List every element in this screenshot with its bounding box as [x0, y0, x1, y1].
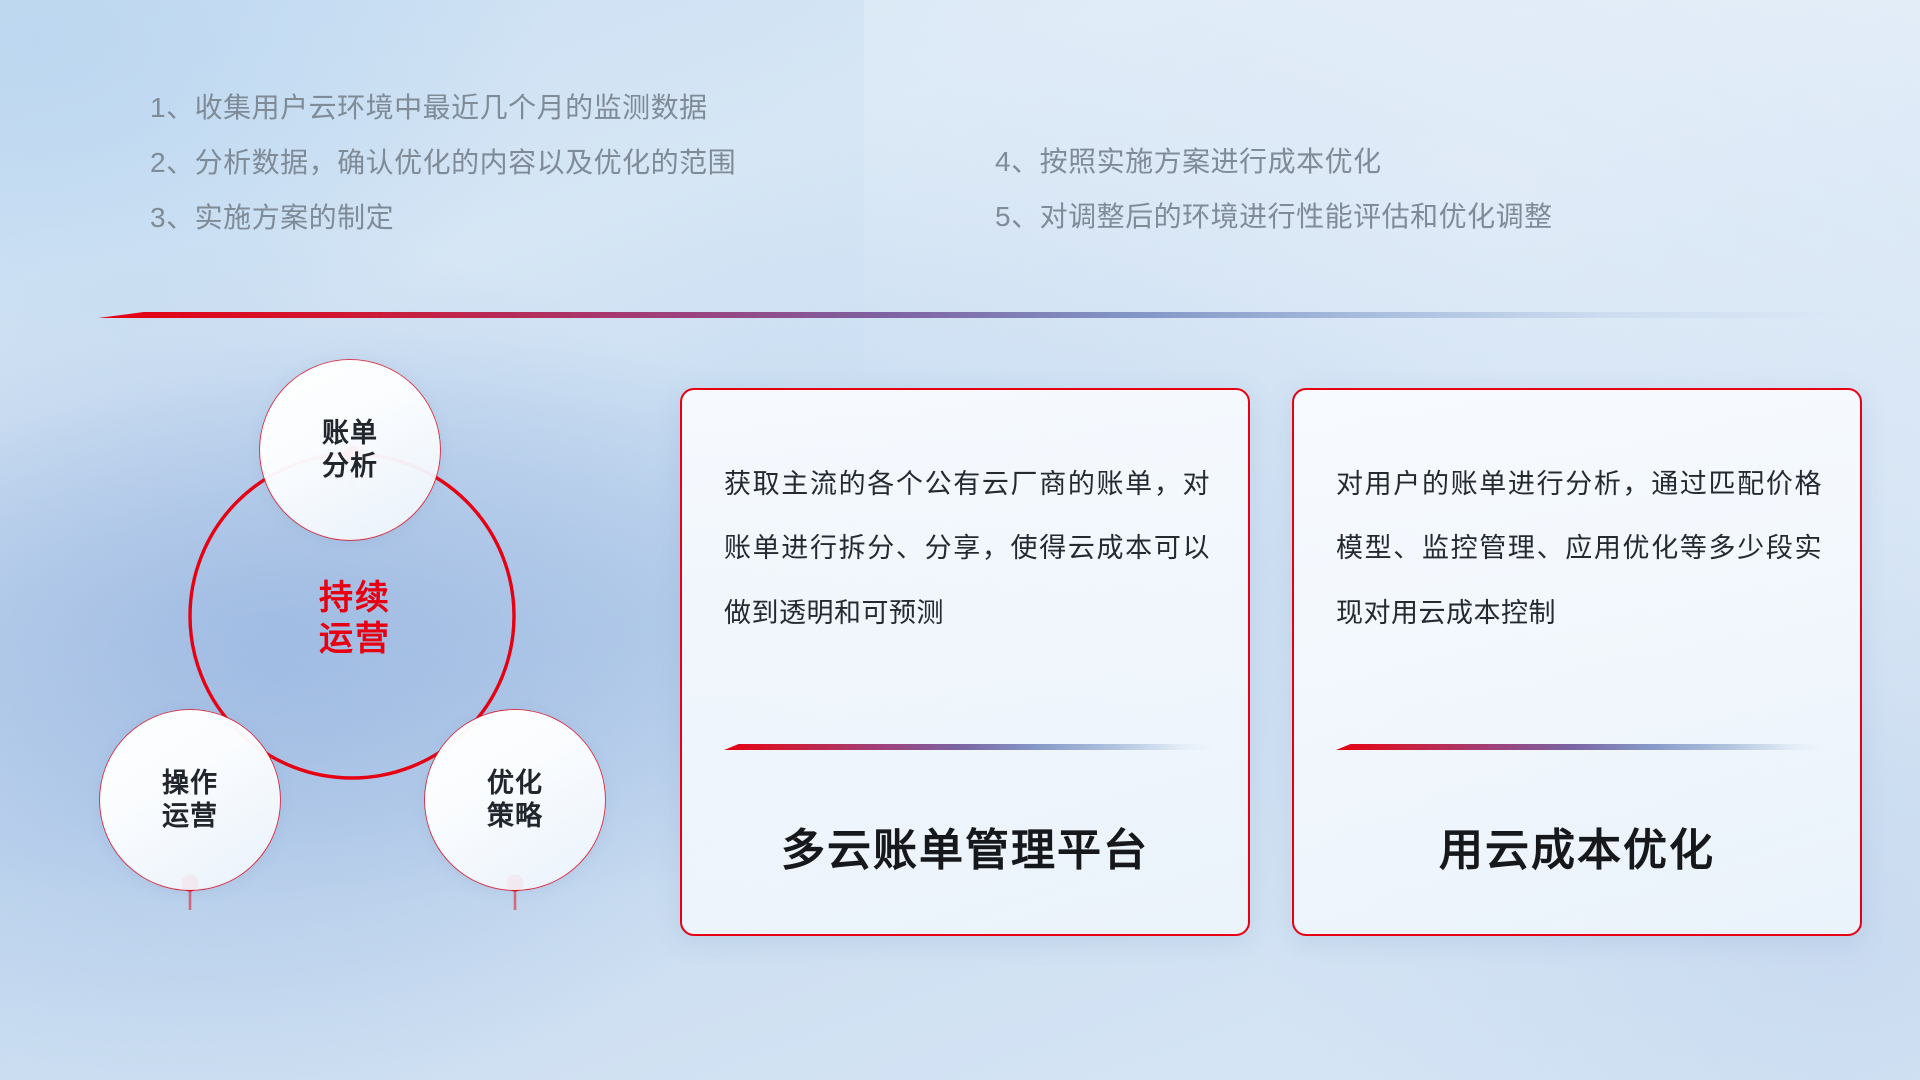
step-item-1: 1、收集用户云环境中最近几个月的监测数据: [150, 94, 736, 122]
bubble-label-line1: 操作: [162, 767, 218, 800]
center-label-line2: 运营: [275, 619, 435, 660]
step-item-2: 2、分析数据，确认优化的内容以及优化的范围: [150, 149, 736, 177]
card-accent-rule: [1336, 744, 1824, 750]
card-multi-cloud-bill-platform[interactable]: 获取主流的各个公有云厂商的账单，对账单进行拆分、分享，使得云成本可以做到透明和可…: [680, 388, 1250, 936]
step-item-5: 5、对调整后的环境进行性能评估和优化调整: [995, 203, 1553, 231]
bubble-label-line1: 账单: [322, 417, 378, 450]
diagram-bubble-optimization-policy[interactable]: 优化 策略: [425, 710, 605, 890]
card-title: 用云成本优化: [1294, 814, 1860, 878]
slide-canvas: 1、收集用户云环境中最近几个月的监测数据 2、分析数据，确认优化的内容以及优化的…: [0, 0, 1920, 1080]
card-body-text: 对用户的账单进行分析，通过匹配价格模型、监控管理、应用优化等多少段实现对用云成本…: [1336, 452, 1822, 645]
continuous-operation-diagram: 账单 分析 操作 运营 优化 策略 持续 运营: [90, 350, 650, 950]
bubble-label-line2: 运营: [162, 800, 218, 833]
bubble-label-line2: 分析: [322, 450, 378, 483]
diagram-bubble-bill-analysis[interactable]: 账单 分析: [260, 360, 440, 540]
step-item-3: 3、实施方案的制定: [150, 204, 736, 232]
card-title: 多云账单管理平台: [682, 814, 1248, 878]
diagram-bubble-operation[interactable]: 操作 运营: [100, 710, 280, 890]
card-accent-rule: [724, 744, 1212, 750]
center-label-line1: 持续: [275, 578, 435, 619]
steps-right-column: 4、按照实施方案进行成本优化 5、对调整后的环境进行性能评估和优化调整: [995, 148, 1553, 231]
section-divider: [98, 312, 1858, 318]
step-item-4: 4、按照实施方案进行成本优化: [995, 148, 1553, 176]
card-cloud-cost-optimization[interactable]: 对用户的账单进行分析，通过匹配价格模型、监控管理、应用优化等多少段实现对用云成本…: [1292, 388, 1862, 936]
steps-left-column: 1、收集用户云环境中最近几个月的监测数据 2、分析数据，确认优化的内容以及优化的…: [150, 94, 736, 232]
section-divider-fill: [98, 312, 1858, 318]
card-body-text: 获取主流的各个公有云厂商的账单，对账单进行拆分、分享，使得云成本可以做到透明和可…: [724, 452, 1210, 645]
diagram-center-label: 持续 运营: [275, 578, 435, 661]
bubble-label-line1: 优化: [487, 767, 543, 800]
bubble-label-line2: 策略: [487, 800, 543, 833]
